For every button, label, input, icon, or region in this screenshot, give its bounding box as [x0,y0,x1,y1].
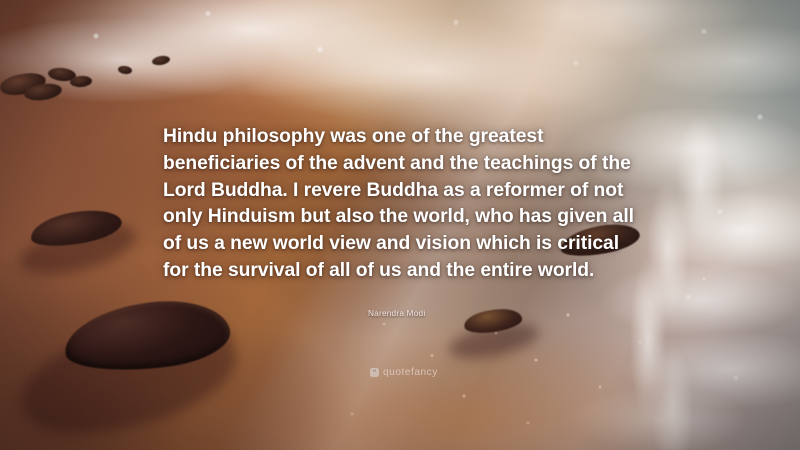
rock-large-lower-left [61,293,234,379]
rock-small-upper-left-b [23,81,63,102]
rock-speck-upper-mid-b [118,65,133,75]
quote-line-6: for the survival of all of us and the en… [163,258,643,285]
quote-line-1: Hindu philosophy was one of the greatest [163,124,643,151]
quote-line-4: only Hinduism but also the world, who ha… [163,204,643,231]
rock-cluster-mid-left [28,204,124,251]
quote-poster: Hindu philosophy was one of the greatest… [0,0,800,450]
quote-line-5: of us a new world view and vision which … [163,231,643,258]
quote-badge-icon: “ [370,368,379,377]
quote-line-3: Lord Buddha. I revere Buddha as a reform… [163,178,643,205]
quote-line-2: beneficiaries of the advent and the teac… [163,151,643,178]
rock-small-upper-left-a [0,69,48,98]
rock-centre [463,306,523,336]
rock-small-upper-left-c [47,67,76,83]
watermark: “ quotefancy [370,367,438,378]
rock-speck-upper-mid [151,55,170,67]
rock-small-upper-left-d [70,75,93,88]
quote-block: Hindu philosophy was one of the greatest… [163,124,643,285]
watermark-brand: quotefancy [383,367,438,378]
rock-shadow-centre [446,317,542,365]
quote-author: Narendra Modi [368,309,425,318]
rock-shadow-large-lower-left [9,302,247,450]
quote-badge-glyph: “ [372,369,376,376]
rock-shadow-mid-left [15,214,142,284]
